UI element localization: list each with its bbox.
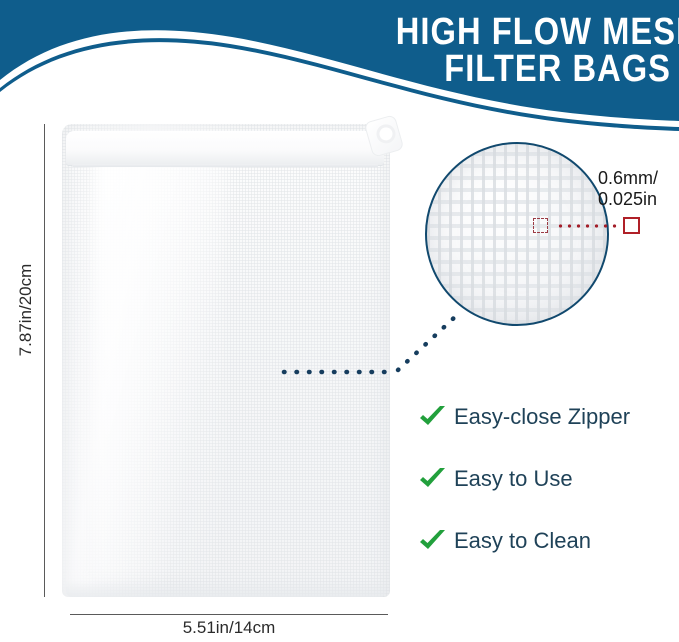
product-infographic: HIGH FLOW MESH FILTER BAGS 7.87in/20cm 5… [0,0,679,642]
mesh-size-square-icon [623,217,640,234]
feature-label: Easy-close Zipper [454,404,630,430]
zipper-pull-hole [374,122,398,146]
feature-list: Easy-close Zipper Easy to Use Easy to Cl… [418,386,676,572]
product-image-mesh-bag [62,124,390,597]
feature-item-easy-to-use: Easy to Use [418,448,676,510]
header-banner: HIGH FLOW MESH FILTER BAGS [0,0,679,132]
mesh-measure-leader-dots [556,224,618,228]
mesh-size-line-1: 0.6mm/ [598,168,679,189]
bag-zipper-strip [66,131,384,165]
mesh-measure-marker-icon [533,218,548,233]
dimension-line-vertical [44,124,45,597]
feature-item-easy-close-zipper: Easy-close Zipper [418,386,676,448]
mesh-magnifier-circle [425,142,609,326]
dimension-label-height: 7.87in/20cm [16,250,36,370]
check-icon [418,404,448,430]
check-icon [418,466,448,492]
bag-zipper-seam [72,164,378,167]
header-wave-graphic [0,0,679,132]
bag-bottom-shadow [66,581,386,597]
dimension-line-horizontal [70,614,388,615]
feature-label: Easy to Use [454,466,573,492]
mesh-size-line-2: 0.025in [598,189,679,210]
mesh-size-label: 0.6mm/ 0.025in [598,168,679,210]
bag-body [62,124,390,597]
feature-item-easy-to-clean: Easy to Clean [418,510,676,572]
callout-leader-diagonal [398,316,456,370]
dimension-label-width: 5.51in/14cm [70,618,388,638]
check-icon [418,528,448,554]
feature-label: Easy to Clean [454,528,591,554]
